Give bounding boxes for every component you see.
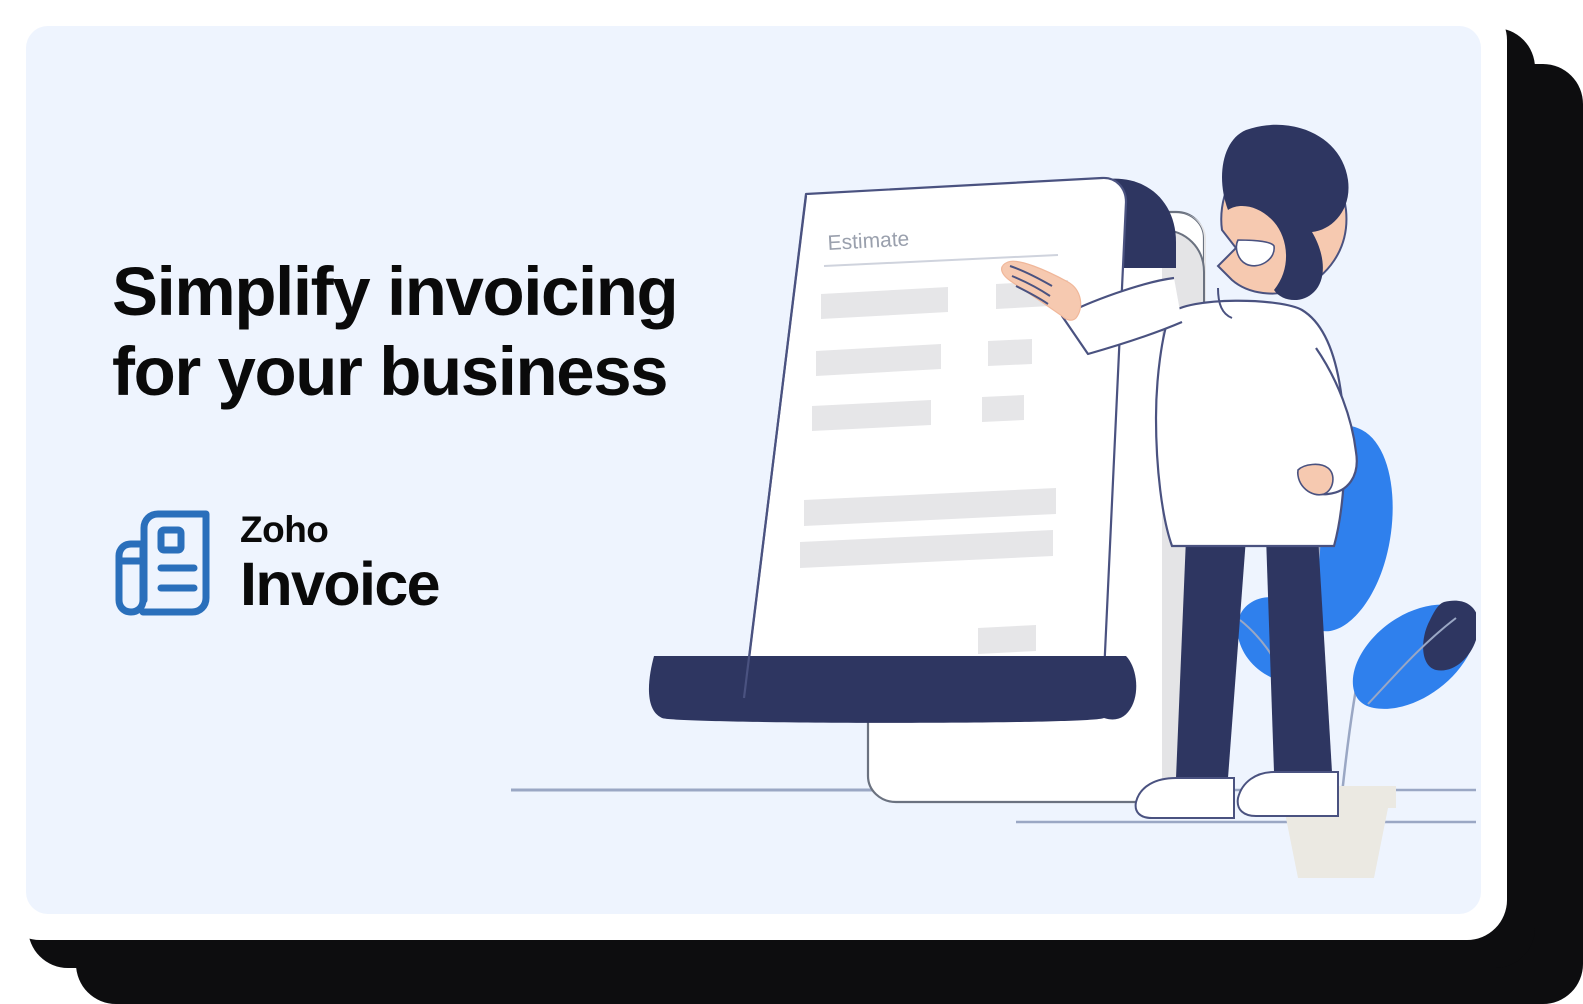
hero-illustration: Estimate xyxy=(476,118,1476,878)
invoice-scroll: Estimate xyxy=(649,178,1176,723)
logo-wordmark: Zoho Invoice xyxy=(240,511,439,615)
zoho-invoice-document-icon xyxy=(114,508,214,618)
logo-product-text: Invoice xyxy=(240,554,439,615)
zoho-invoice-logo: Zoho Invoice xyxy=(114,508,439,618)
device-screen: Simplify invoicing for your business xyxy=(26,26,1481,914)
estimate-label: Estimate xyxy=(827,227,910,255)
logo-brand-text: Zoho xyxy=(240,511,439,548)
screenshot-root: Simplify invoicing for your business xyxy=(0,0,1583,1004)
device-bezel: Simplify invoicing for your business xyxy=(0,0,1507,940)
